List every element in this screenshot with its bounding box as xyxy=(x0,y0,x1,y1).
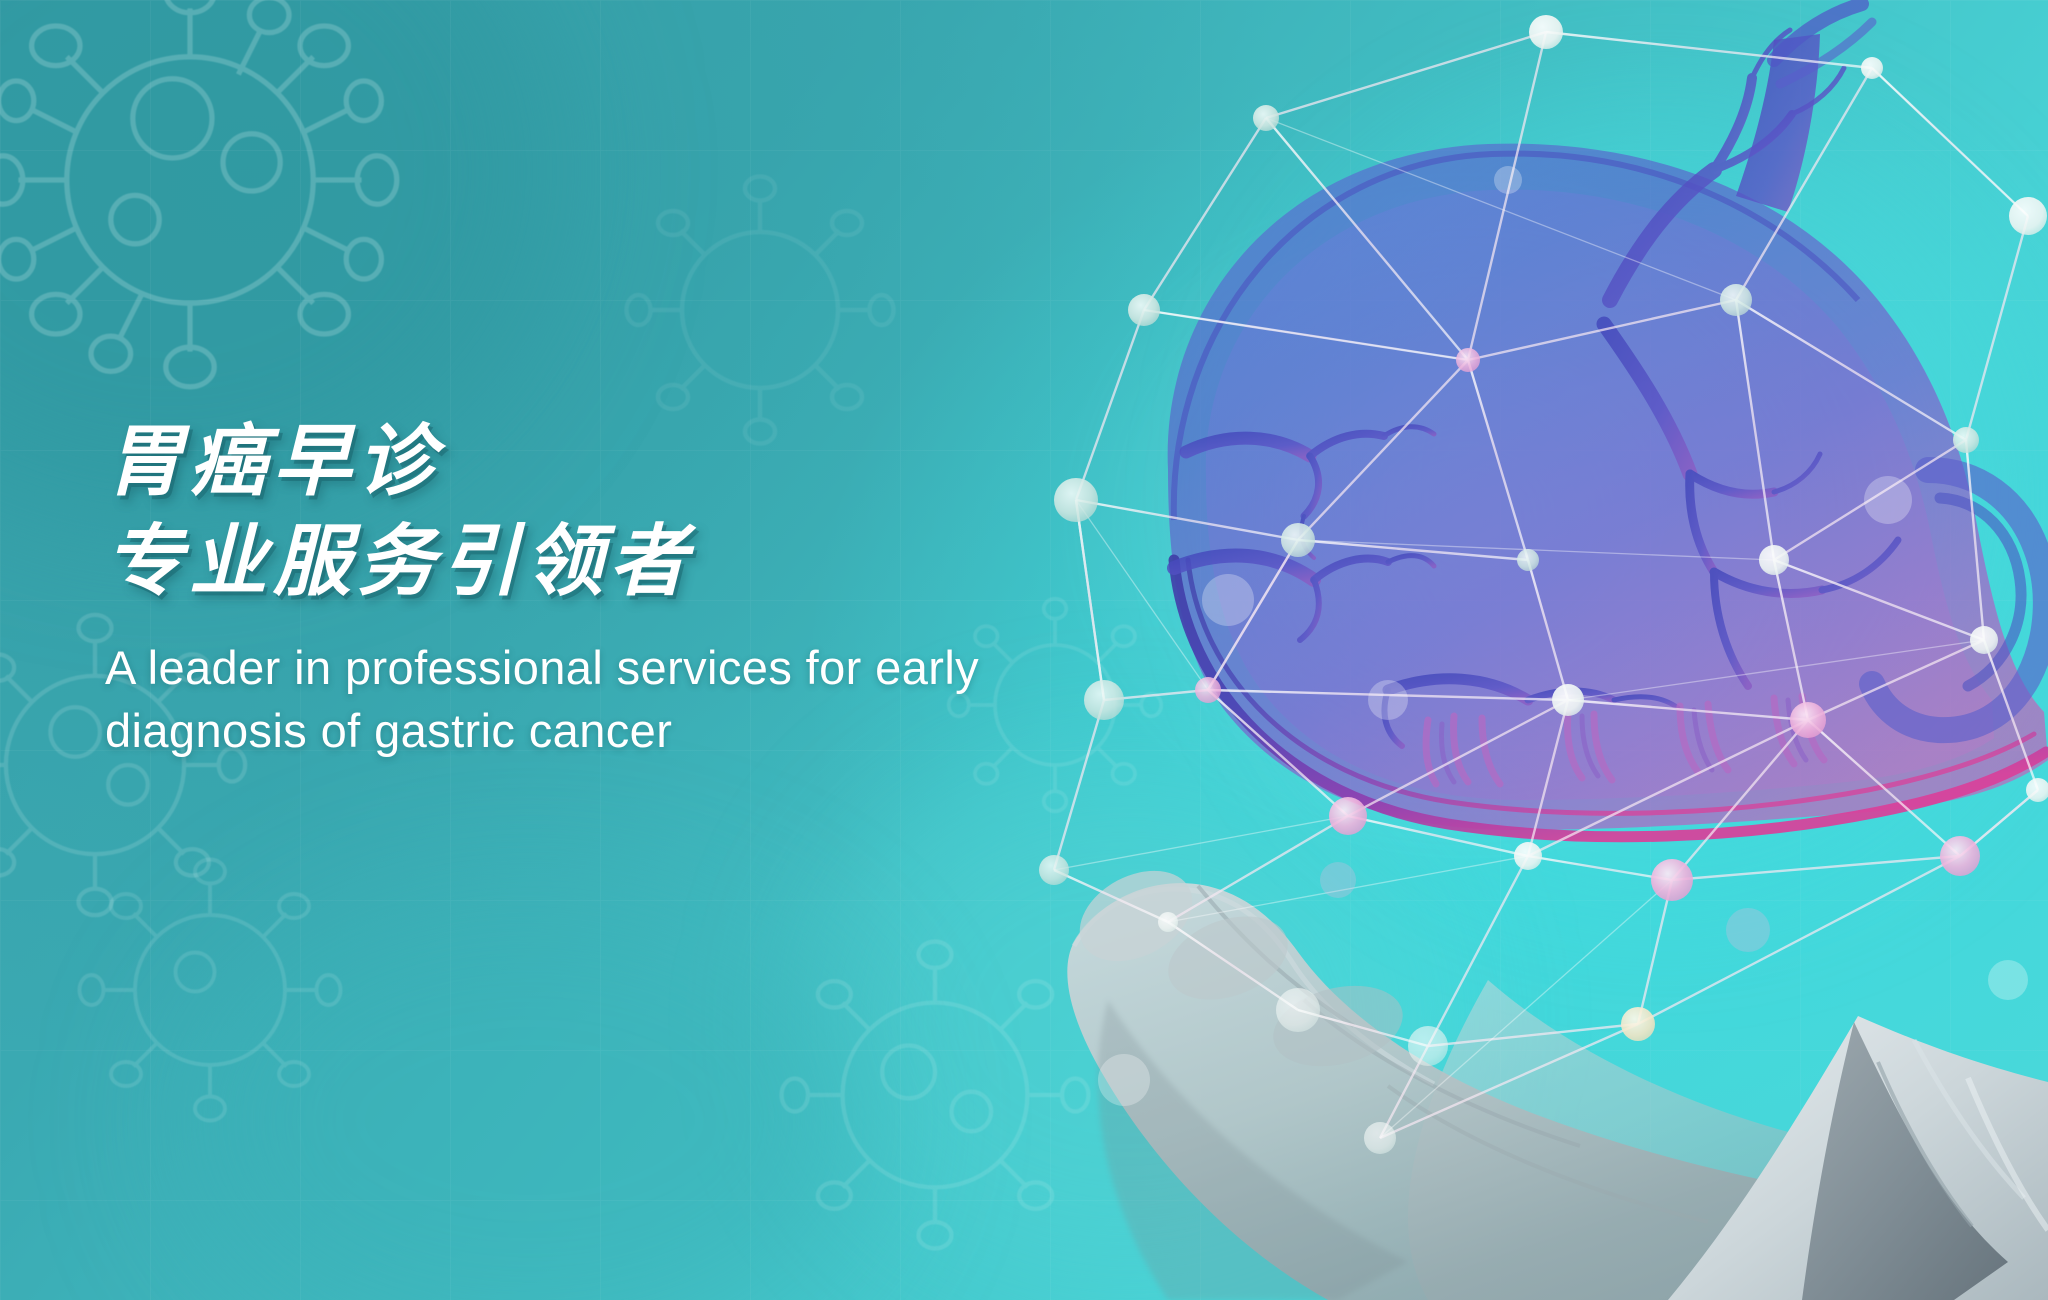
hero-banner: 胃癌早诊 专业服务引领者 A leader in professional se… xyxy=(0,0,2048,1300)
virus-particle-watermark-1 xyxy=(0,0,410,400)
headline-block: 胃癌早诊 专业服务引领者 A leader in professional se… xyxy=(105,415,1125,762)
headline-chinese-line-1: 胃癌早诊 xyxy=(105,415,1125,507)
subheadline-english-line-1: A leader in professional services for ea… xyxy=(105,637,1125,700)
bg-glow-4 xyxy=(180,880,880,1300)
stomach-body xyxy=(1168,4,2048,837)
virus-particle-watermark-3 xyxy=(60,840,360,1140)
headline-chinese-line-2: 专业服务引领者 xyxy=(105,515,1125,607)
subheadline-english-line-2: diagnosis of gastric cancer xyxy=(105,700,1125,763)
